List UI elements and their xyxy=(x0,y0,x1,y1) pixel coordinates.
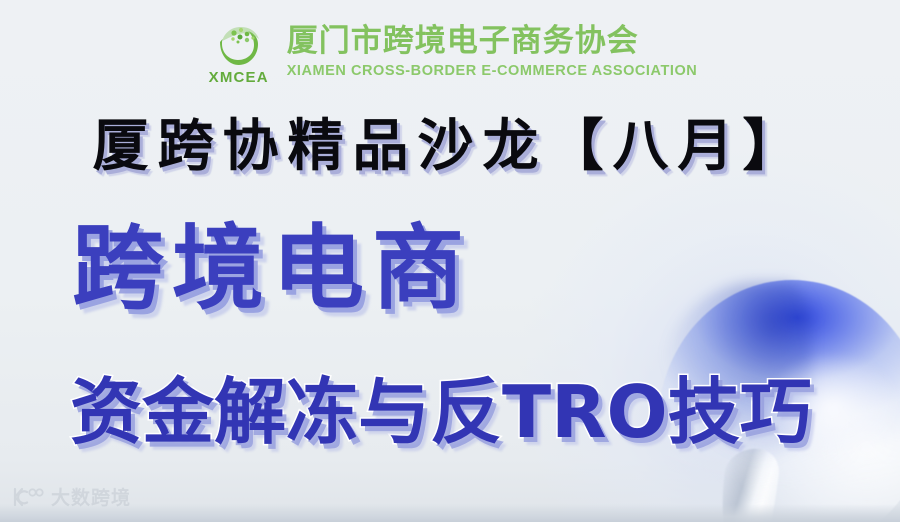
poster-canvas: XMCEA 厦门市跨境电子商务协会 XIAMEN CROSS-BORDER E-… xyxy=(0,0,900,522)
green-leaf-circle-icon xyxy=(213,22,265,68)
association-abbr: XMCEA xyxy=(209,69,269,86)
watermark: 大数跨境 xyxy=(10,483,131,510)
headline-line-1: 厦跨协精品沙龙【八月】 xyxy=(0,116,900,179)
dashukuajing-logo-icon xyxy=(10,486,44,508)
association-logo: XMCEA xyxy=(203,22,275,86)
association-names: 厦门市跨境电子商务协会 XIAMEN CROSS-BORDER E-COMMER… xyxy=(287,22,698,79)
headline-line-2: 跨境电商 xyxy=(72,218,472,319)
headline-line-3: 资金解冻与反TRO技巧 xyxy=(70,372,812,453)
association-name-en: XIAMEN CROSS-BORDER E-COMMERCE ASSOCIATI… xyxy=(287,63,698,79)
association-name-cn: 厦门市跨境电子商务协会 xyxy=(287,24,698,60)
association-header: XMCEA 厦门市跨境电子商务协会 XIAMEN CROSS-BORDER E-… xyxy=(0,22,900,86)
watermark-text: 大数跨境 xyxy=(51,483,131,510)
